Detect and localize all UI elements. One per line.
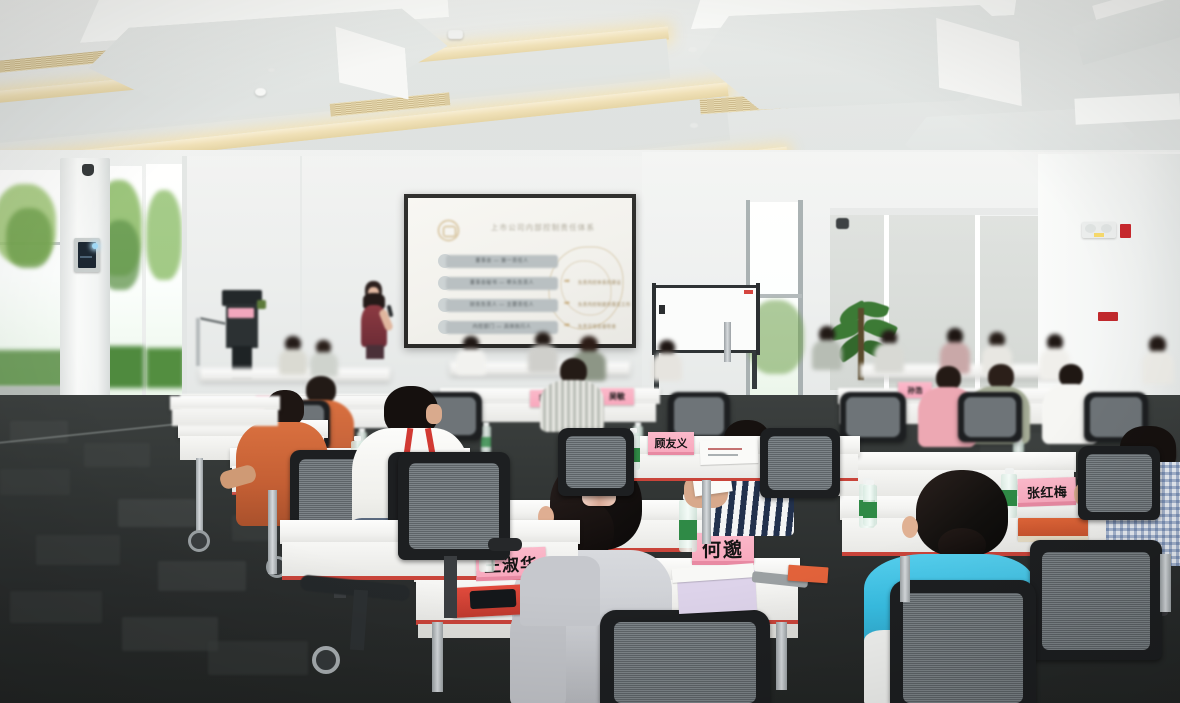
wall-socket	[1098, 312, 1118, 321]
orange-folder-center	[787, 565, 828, 584]
slide-note-2: 负责内控制度的落实工作	[578, 302, 631, 308]
name-card-mid-right: 吴敏	[600, 388, 634, 405]
slide-note-1: 负责内控体系的建设	[578, 280, 621, 286]
slide-bar-2: 董事会秘书 — 牵头负责人	[446, 277, 558, 290]
water-bottle	[862, 480, 878, 526]
office-chair	[958, 392, 1022, 450]
attendee-far-1	[278, 336, 308, 374]
company-seal-logo	[438, 220, 459, 241]
desk-leg	[432, 622, 443, 692]
office-chair-mid-right	[760, 428, 840, 528]
desk-leg	[702, 480, 711, 544]
attendee-striped-shirt-mid	[540, 360, 604, 430]
whiteboard-magnet	[659, 305, 665, 314]
office-chair-mid-center	[558, 428, 634, 524]
handout-on-desk	[700, 439, 759, 465]
desk-leg	[268, 490, 277, 574]
slide-arrow-2: ➡	[564, 299, 570, 307]
desk-right-upper	[826, 452, 1076, 472]
attendee-far-6	[652, 340, 682, 380]
name-card-mid-center: 顾友义	[648, 432, 694, 454]
training-room-photo: 上市公司内部控制责任体系 董事会 — 第一责任人 董事会秘书 — 牵头负责人 财…	[0, 0, 1180, 703]
security-camera-icon	[82, 164, 94, 176]
structural-column	[60, 158, 110, 408]
attendee-far-8	[874, 330, 904, 374]
attendee-far-12	[1142, 336, 1174, 384]
desk-leg	[776, 622, 787, 690]
attendee-far-3	[456, 336, 486, 374]
slide-arrow-1: ➡	[564, 277, 570, 285]
slide-title: 上市公司内部控制责任体系	[478, 222, 608, 233]
ceiling-light-fixture	[448, 30, 463, 39]
whiteboard-marker	[744, 290, 753, 294]
lectern-name-plate	[228, 308, 254, 318]
office-chair-right-mid	[1078, 446, 1160, 556]
wall-control-panel	[74, 238, 100, 272]
office-chair-foreground-left	[398, 452, 510, 628]
attendee-far-7	[812, 326, 842, 370]
fire-alarm-icon	[1120, 224, 1131, 238]
chair-caster	[188, 530, 210, 552]
slide-bar-3: 财务负责人 — 主要责任人	[446, 299, 558, 312]
chair-caster	[312, 646, 340, 674]
slide-bar-1: 董事会 — 第一责任人	[446, 255, 558, 268]
name-card-text: 顾友义	[655, 435, 688, 451]
security-camera-right-icon	[836, 218, 849, 229]
office-chair-foreground-center	[600, 610, 770, 703]
attendee-far-2	[310, 340, 338, 376]
office-chair-foreground-right-1	[1030, 540, 1162, 703]
ceiling-speaker-icon	[255, 88, 266, 96]
attendee-front-left-grey	[520, 556, 600, 626]
slide-note-3: 负责日常监督检查	[578, 324, 616, 330]
projection-screen: 上市公司内部控制责任体系 董事会 — 第一责任人 董事会秘书 — 牵头负责人 财…	[404, 194, 636, 348]
emergency-light-fixture	[1082, 222, 1116, 238]
name-card-text: 吴敏	[609, 391, 625, 402]
desk-leg	[724, 322, 731, 362]
office-chair-foreground-right-2	[890, 580, 1036, 703]
desk-leg	[900, 556, 910, 602]
presenter	[358, 283, 392, 358]
slide-arrow-3: ➡	[564, 321, 570, 329]
desk-leg	[1160, 554, 1171, 612]
